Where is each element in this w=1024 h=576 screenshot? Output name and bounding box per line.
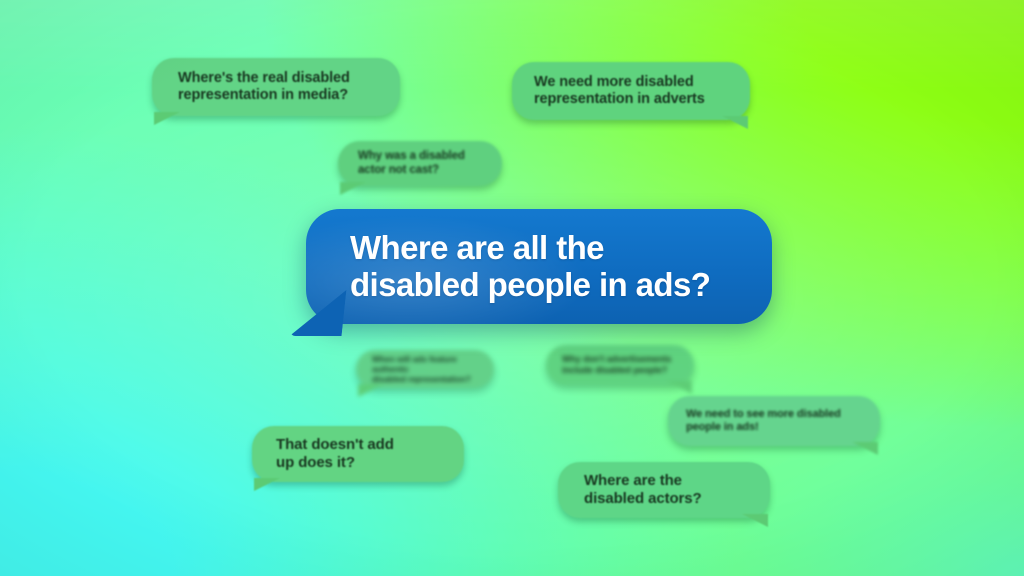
speech-bubble-doesnt-add-up: That doesn't add up does it? — [252, 426, 464, 482]
speech-bubble-text: Why don't advertisements include disable… — [562, 354, 682, 375]
speech-bubble-text: We need to see more disabled people in a… — [686, 408, 866, 434]
speech-bubble-text: Where's the real disabled representation… — [178, 70, 384, 104]
speech-bubble-we-need-to-see-more: We need to see more disabled people in a… — [668, 396, 880, 446]
speech-bubble-text: That doesn't add up does it? — [276, 436, 450, 471]
speech-bubble-text: Where are the disabled actors? — [584, 472, 756, 507]
speech-bubble-topright: We need more disabled representation in … — [512, 62, 750, 120]
speech-bubble-why-actor-not-cast: Why was a disabled actor not cast? — [338, 141, 502, 186]
hero-speech-bubble: Where are all the disabled people in ads… — [306, 209, 772, 324]
speech-bubble-disabled-actors: Where are the disabled actors? — [558, 462, 770, 518]
speech-bubble-authentic-representation: When will ads feature authentic disabled… — [356, 350, 494, 388]
hero-headline: Where are all the disabled people in ads… — [306, 230, 772, 304]
scene-canvas: Where's the real disabled representation… — [0, 0, 1024, 576]
speech-bubble-text: We need more disabled representation in … — [534, 74, 730, 108]
speech-bubble-topleft: Where's the real disabled representation… — [152, 58, 400, 116]
speech-bubble-text: When will ads feature authentic disabled… — [372, 354, 482, 384]
speech-bubble-text: Why was a disabled actor not cast? — [358, 150, 488, 177]
speech-bubble-why-dont-advertisements: Why don't advertisements include disable… — [546, 345, 694, 385]
